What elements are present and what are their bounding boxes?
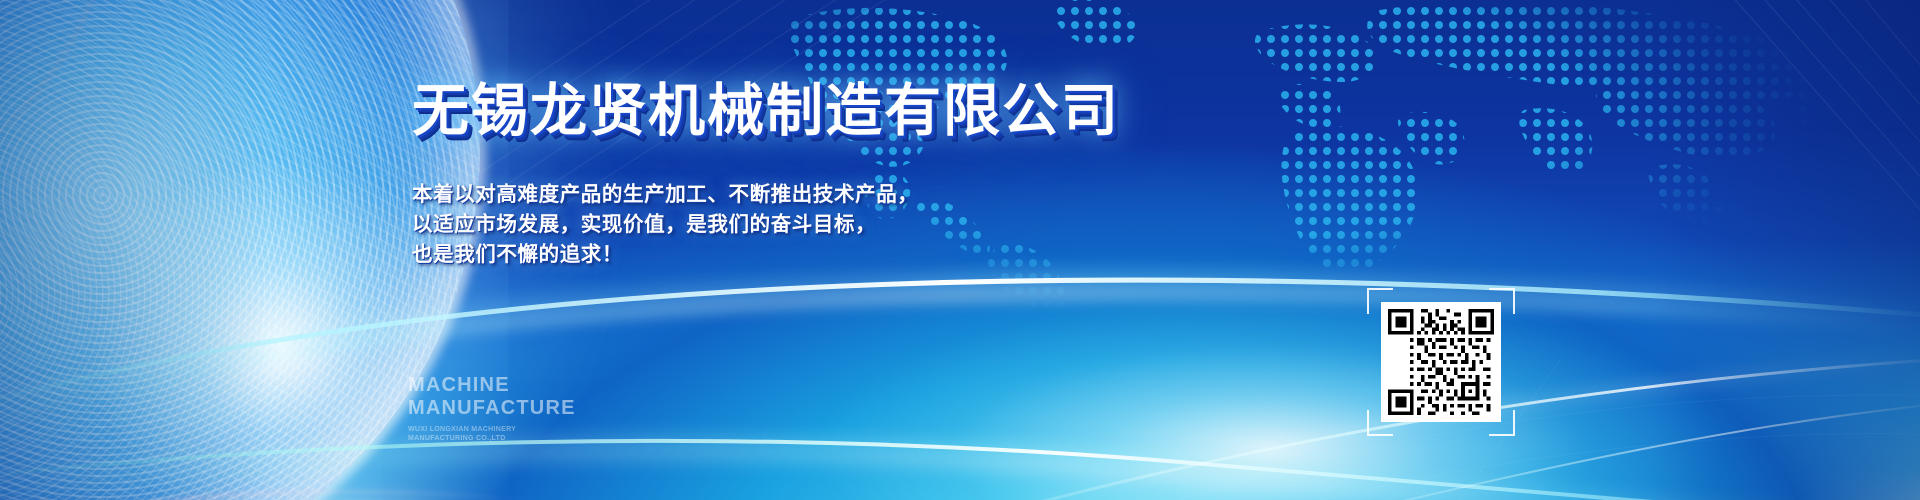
subtitle-line-1: 本着以对高难度产品的生产加工、不断推出技术产品， <box>412 180 918 210</box>
qr-code-icon[interactable] <box>1381 302 1501 422</box>
watermark-line-machine: MACHINE <box>408 374 576 397</box>
brand-watermark: MACHINE MANUFACTURE WUXI LONGXIAN MACHIN… <box>408 374 576 443</box>
subtitle-block: 本着以对高难度产品的生产加工、不断推出技术产品， 以适应市场发展，实现价值，是我… <box>412 180 918 270</box>
subtitle-line-2: 以适应市场发展，实现价值，是我们的奋斗目标， <box>412 210 918 240</box>
watermark-line-manufacture: MANUFACTURE <box>408 397 576 420</box>
company-banner: 无锡龙贤机械制造有限公司 本着以对高难度产品的生产加工、不断推出技术产品， 以适… <box>0 0 1920 500</box>
banner-content: 无锡龙贤机械制造有限公司 本着以对高难度产品的生产加工、不断推出技术产品， 以适… <box>0 0 1920 500</box>
subtitle-line-3: 也是我们不懈的追求！ <box>412 240 918 270</box>
qr-code-block[interactable] <box>1367 288 1515 436</box>
watermark-line-company-en: WUXI LONGXIAN MACHINERY MANUFACTURING CO… <box>408 425 520 443</box>
page-title: 无锡龙贤机械制造有限公司 <box>412 78 1120 144</box>
